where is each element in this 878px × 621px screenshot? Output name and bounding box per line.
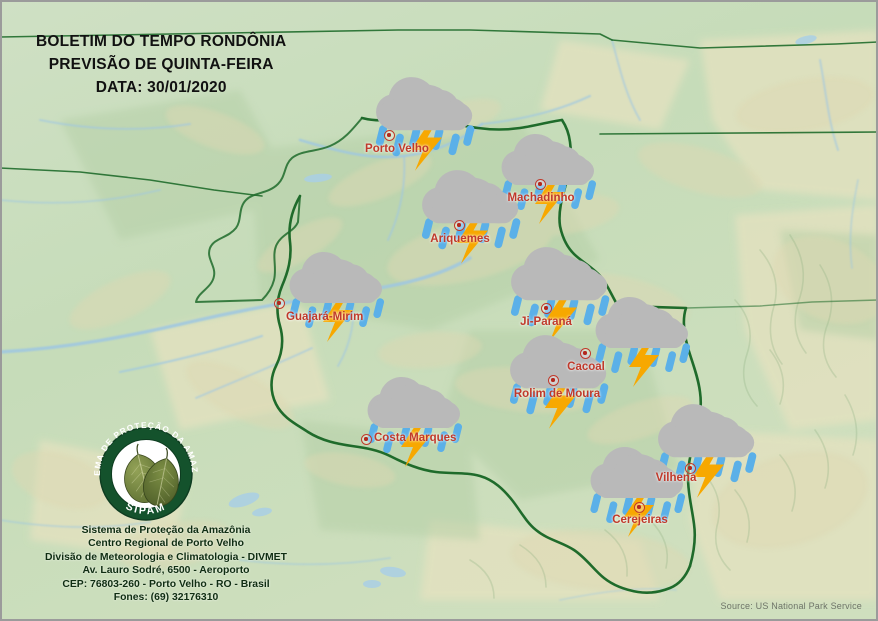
city-label: Cerejeiras	[612, 514, 668, 526]
city-dot-icon[interactable]	[548, 375, 559, 386]
weather-icon-thunderstorm	[277, 248, 395, 344]
title-line-1: BOLETIM DO TEMPO RONDÔNIA	[36, 30, 286, 53]
city-dot-icon[interactable]	[274, 298, 285, 309]
footer-line: Av. Lauro Sodré, 6500 - Aeroporto	[16, 564, 316, 577]
weather-icon-thunderstorm	[355, 373, 473, 469]
city-dot-icon[interactable]	[541, 303, 552, 314]
footer-line: Divisão de Meteorologia e Climatologia -…	[16, 551, 316, 564]
city-dot-icon[interactable]	[634, 502, 645, 513]
footer-contact-block: Sistema de Proteção da AmazôniaCentro Re…	[16, 524, 316, 604]
footer-line: Centro Regional de Porto Velho	[16, 537, 316, 550]
city-label: Guajará-Mirim	[286, 311, 363, 323]
cloud-shape	[422, 170, 518, 223]
city-label: Machadinho	[507, 192, 574, 204]
city-label: Vilhena	[656, 472, 697, 484]
footer-line: Fones: (69) 32176310	[16, 591, 316, 604]
city-label: Costa Marques	[374, 432, 456, 444]
city-dot-icon[interactable]	[535, 179, 546, 190]
cloud-shape	[368, 377, 460, 428]
page-title: BOLETIM DO TEMPO RONDÔNIA PREVISÃO DE QU…	[36, 30, 286, 99]
city-label: Ji-Paraná	[520, 316, 572, 328]
city-label: Ariquemes	[430, 233, 489, 245]
sipam-logo: SISTEMA DE PROTEÇÃO DA AMAZÔNIA SIPAM	[90, 418, 202, 524]
footer-line: Sistema de Proteção da Amazônia	[16, 524, 316, 537]
city-dot-icon[interactable]	[580, 348, 591, 359]
cloud-shape	[290, 252, 382, 303]
cloud-shape	[376, 77, 472, 130]
city-label: Porto Velho	[365, 143, 429, 155]
weather-icon-thunderstorm	[363, 73, 486, 173]
title-line-3: DATA: 30/01/2020	[36, 76, 286, 99]
city-dot-icon[interactable]	[361, 434, 372, 445]
city-dot-icon[interactable]	[384, 130, 395, 141]
city-label: Cacoal	[567, 361, 605, 373]
city-dot-icon[interactable]	[454, 220, 465, 231]
source-credit: Source: US National Park Service	[721, 601, 862, 611]
weather-bulletin-map: BOLETIM DO TEMPO RONDÔNIA PREVISÃO DE QU…	[0, 0, 878, 621]
footer-line: CEP: 76803-260 - Porto Velho - RO - Bras…	[16, 578, 316, 591]
title-line-2: PREVISÃO DE QUINTA-FEIRA	[36, 53, 286, 76]
city-label: Rolim de Moura	[514, 388, 600, 400]
